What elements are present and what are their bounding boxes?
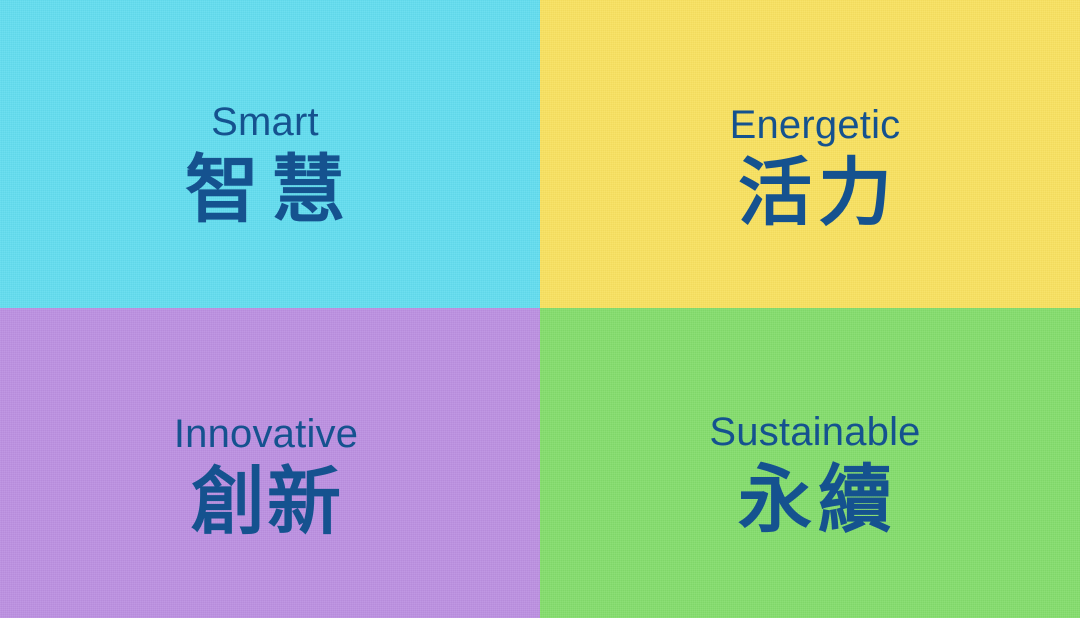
quadrant-energetic[interactable]: Energetic 活力 <box>540 0 1080 308</box>
quadrant-sustainable[interactable]: Sustainable 永續 <box>540 308 1080 618</box>
quadrant-smart[interactable]: Smart 智慧 <box>0 0 540 308</box>
quadrant-smart-label-en: Smart <box>211 101 319 143</box>
quadrant-sustainable-label-en: Sustainable <box>709 411 920 453</box>
quadrant-innovative-label-cjk: 創新 <box>189 461 343 544</box>
quadrant-smart-content: Smart 智慧 <box>173 101 357 232</box>
quadrant-energetic-label-en: Energetic <box>730 104 901 146</box>
quadrant-sustainable-content: Sustainable 永續 <box>709 411 920 542</box>
value-grid: Smart 智慧 Energetic 活力 Innovative 創新 Sust… <box>0 0 1080 618</box>
quadrant-energetic-content: Energetic 活力 <box>730 104 901 235</box>
quadrant-sustainable-label-cjk: 永續 <box>732 459 898 542</box>
quadrant-innovative-content: Innovative 創新 <box>174 413 358 544</box>
quadrant-smart-label-cjk: 智慧 <box>173 149 357 232</box>
quadrant-energetic-label-cjk: 活力 <box>732 152 898 235</box>
quadrant-innovative-label-en: Innovative <box>174 413 358 455</box>
quadrant-innovative[interactable]: Innovative 創新 <box>0 308 540 618</box>
